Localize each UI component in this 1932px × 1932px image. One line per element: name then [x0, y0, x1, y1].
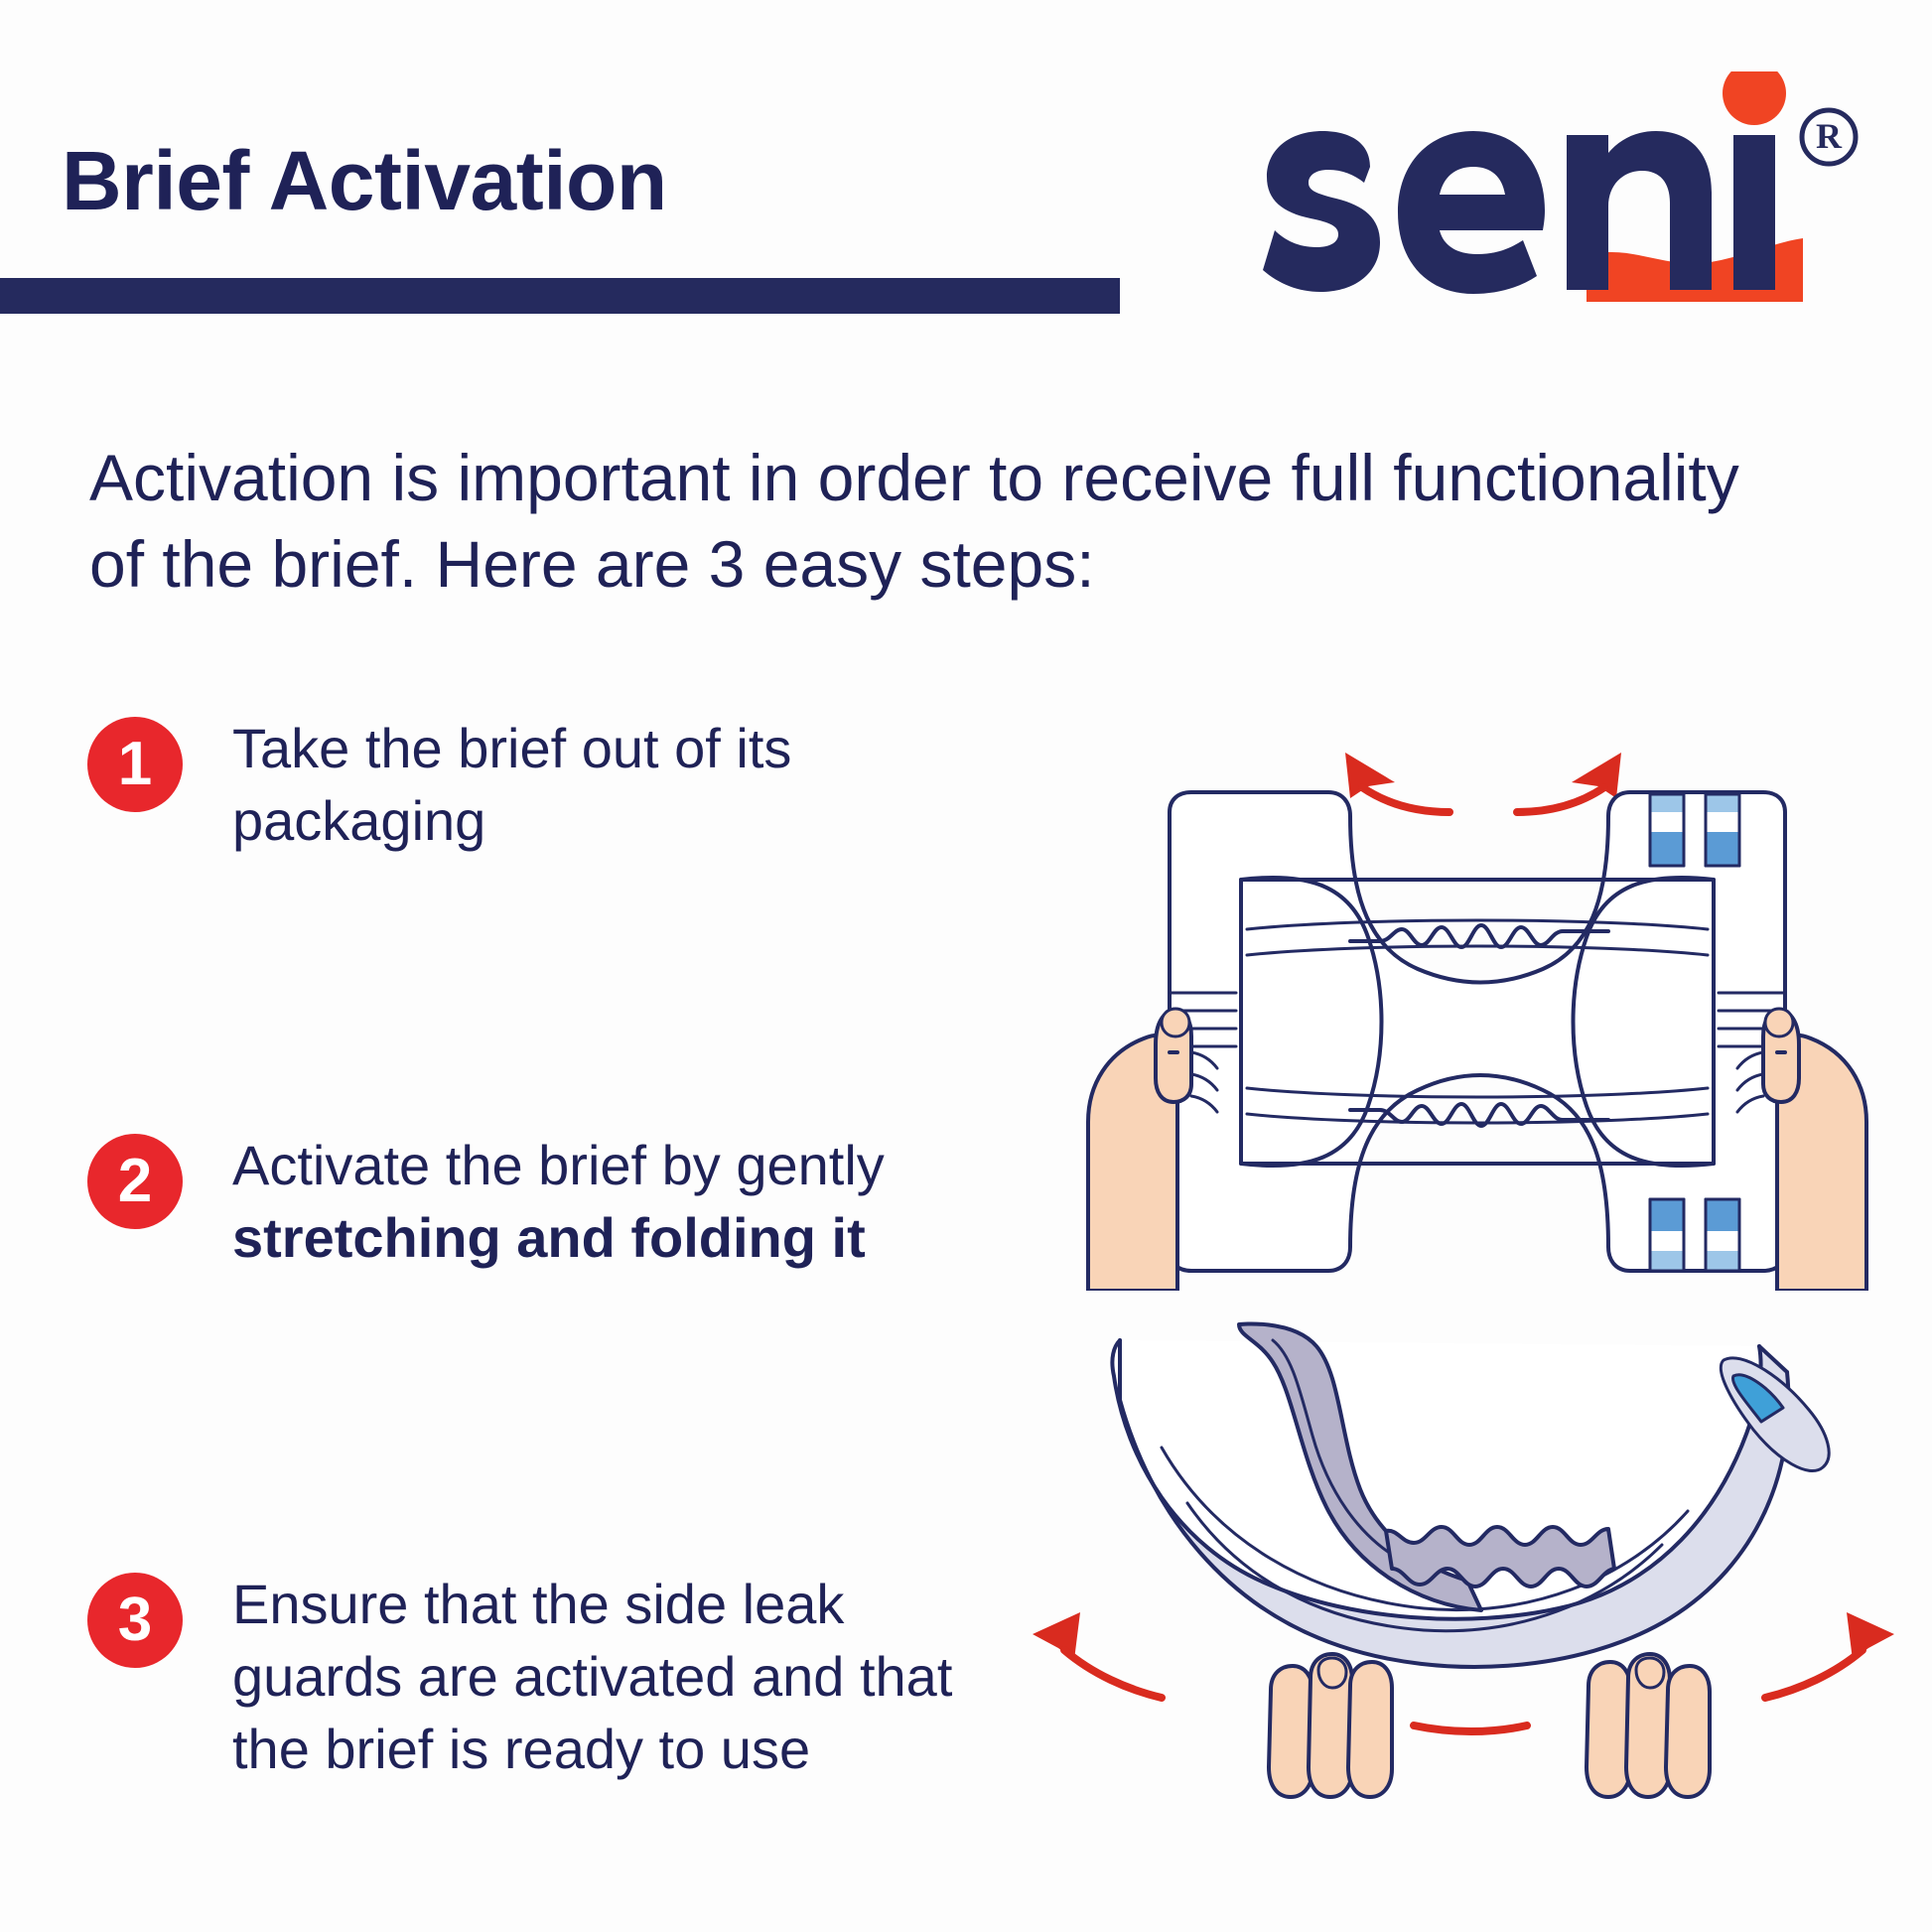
fold-center-red-line: [1414, 1725, 1527, 1731]
seni-logo-dot: [1723, 71, 1786, 125]
page-header: Brief Activation: [0, 0, 1932, 328]
fold-arrow-left-shaft: [1064, 1650, 1162, 1698]
step-item-1: 1 Take the brief out of its packaging: [87, 713, 1031, 858]
stretch-arrow-right-shaft: [1517, 787, 1604, 812]
step-text-3: Ensure that the side leak guards are act…: [232, 1569, 1007, 1785]
registered-trademark-glyph: R: [1816, 116, 1843, 156]
fastening-tab-top-1: [1650, 794, 1684, 866]
step-item-2: 2 Activate the brief by gently stretchin…: [87, 1130, 1031, 1275]
right-hand-fingers: [1587, 1654, 1710, 1797]
brief-folded-body: [1112, 1340, 1788, 1667]
step-text-1: Take the brief out of its packaging: [232, 713, 1007, 858]
fold-arrow-right-shaft: [1765, 1650, 1863, 1698]
seni-logo-letter-s: [1263, 131, 1380, 292]
seni-logo-letter-i: [1733, 135, 1775, 290]
step-number-badge-3: 3: [87, 1573, 183, 1668]
fastening-tab-top-2: [1706, 794, 1739, 866]
brief-fold-illustration: [1003, 1281, 1926, 1837]
fastening-tab-bottom-1: [1650, 1199, 1684, 1271]
title-underline-rule: [0, 278, 1120, 314]
step-number-badge-2: 2: [87, 1134, 183, 1229]
step-text-2: Activate the brief by gently stretching …: [232, 1130, 1007, 1275]
brief-stretch-illustration: [1052, 695, 1906, 1291]
leak-guard-top: [1350, 925, 1608, 947]
intro-paragraph: Activation is important in order to rece…: [89, 435, 1777, 608]
seni-brand-logo: R: [1259, 71, 1874, 318]
step-number-badge-1: 1: [87, 717, 183, 812]
left-hand-fingers: [1269, 1654, 1392, 1797]
stretch-arrow-left-shaft: [1362, 787, 1449, 812]
seni-logo-letter-e: [1398, 131, 1545, 294]
step-item-3: 3 Ensure that the side leak guards are a…: [87, 1569, 1031, 1785]
fastening-tab-bottom-2: [1706, 1199, 1739, 1271]
page-title: Brief Activation: [62, 139, 667, 222]
